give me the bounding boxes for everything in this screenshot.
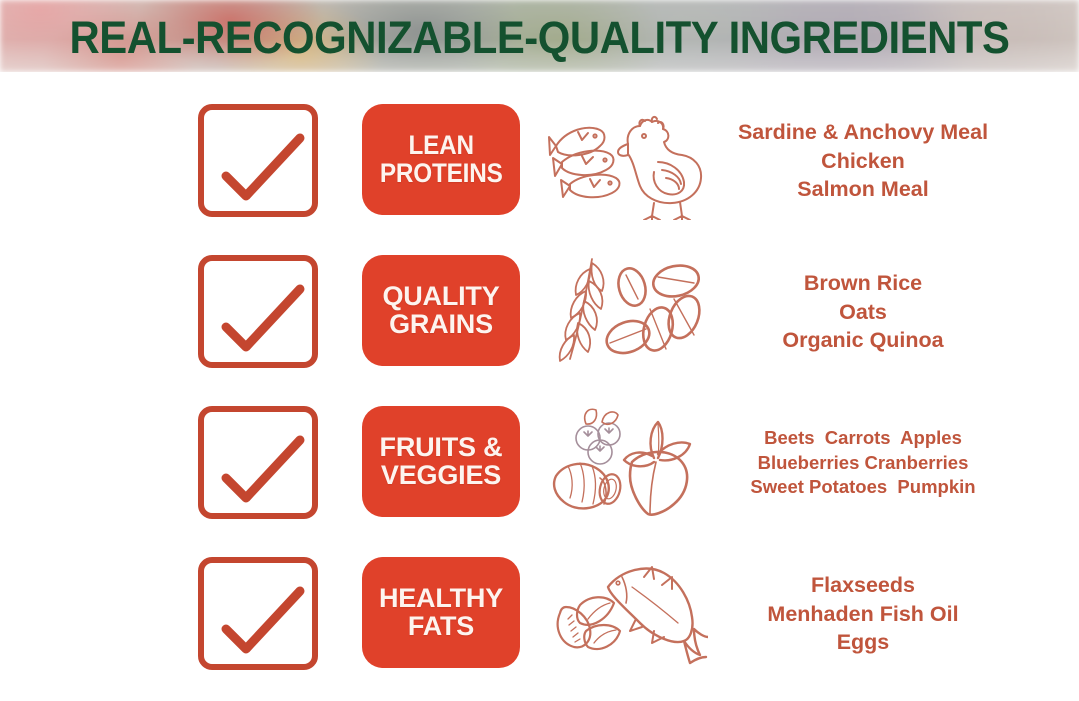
pill-fruits-and-veggies: FRUITS & VEGGIES: [362, 406, 520, 517]
ingredient-row-quality-grains: QUALITY GRAINS: [0, 247, 1079, 399]
pill-label: FRUITS & VEGGIES: [380, 434, 503, 490]
checkbox-lean-proteins: [198, 104, 318, 217]
ingredient-item: Menhaden Fish Oil: [767, 600, 958, 629]
header-banner: REAL-RECOGNIZABLE-QUALITY INGREDIENTS: [0, 0, 1079, 72]
ingredient-item: Salmon Meal: [797, 175, 928, 204]
ingredient-list-healthy-fats: Flaxseeds Menhaden Fish Oil Eggs: [706, 555, 1020, 673]
wheat-and-grains-icon: [548, 251, 708, 371]
ingredient-row-healthy-fats: HEALTHY FATS: [0, 549, 1079, 701]
flaxseeds-and-fish-icon: [548, 553, 708, 673]
pill-label: QUALITY GRAINS: [382, 283, 499, 339]
ingredient-item: Oats: [839, 298, 887, 327]
checkbox-fruits-and-veggies: [198, 406, 318, 519]
berries-sweet-potato-beet-icon: [548, 402, 708, 522]
pill-lean-proteins: LEAN PROTEINS: [362, 104, 520, 215]
fish-and-chicken-icon: [548, 100, 708, 220]
ingredient-list-fruits-and-veggies: Beets Carrots Apples Blueberries Cranber…: [706, 404, 1020, 522]
ingredient-rows: LEAN PROTEINS: [0, 72, 1079, 682]
ingredient-item: Sardine & Anchovy Meal: [738, 118, 988, 147]
ingredient-item: Sweet Potatoes Pumpkin: [750, 475, 975, 500]
ingredient-list-quality-grains: Brown Rice Oats Organic Quinoa: [706, 253, 1020, 371]
pill-quality-grains: QUALITY GRAINS: [362, 255, 520, 366]
ingredient-item: Beets Carrots Apples: [764, 426, 962, 451]
ingredient-list-lean-proteins: Sardine & Anchovy Meal Chicken Salmon Me…: [706, 102, 1020, 220]
ingredient-row-fruits-and-veggies: FRUITS & VEGGIES: [0, 398, 1079, 550]
checkmark-icon: [198, 255, 330, 380]
pill-healthy-fats: HEALTHY FATS: [362, 557, 520, 668]
page-title: REAL-RECOGNIZABLE-QUALITY INGREDIENTS: [38, 0, 1041, 72]
pill-label: HEALTHY FATS: [379, 585, 503, 641]
checkmark-icon: [198, 557, 330, 682]
checkmark-icon: [198, 406, 330, 531]
ingredient-item: Flaxseeds: [811, 571, 915, 600]
checkbox-quality-grains: [198, 255, 318, 368]
ingredient-item: Organic Quinoa: [782, 326, 943, 355]
ingredient-item: Brown Rice: [804, 269, 922, 298]
ingredient-item: Eggs: [837, 628, 890, 657]
ingredient-item: Blueberries Cranberries: [758, 451, 969, 476]
checkbox-healthy-fats: [198, 557, 318, 670]
pill-label: LEAN PROTEINS: [380, 132, 503, 188]
checkmark-icon: [198, 104, 330, 229]
ingredient-row-lean-proteins: LEAN PROTEINS: [0, 96, 1079, 248]
ingredient-item: Chicken: [821, 147, 905, 176]
